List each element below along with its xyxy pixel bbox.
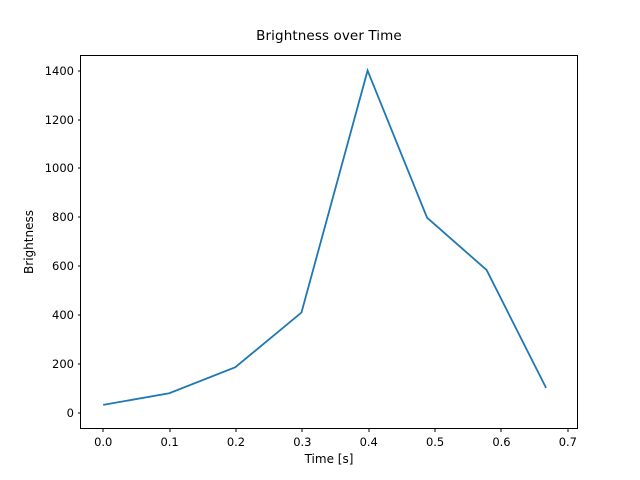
plot-axes: 02004006008001000120014000.00.10.20.30.4… [80, 55, 578, 429]
y-tick-label: 1200 [45, 113, 81, 127]
line-series-brightness [103, 71, 546, 405]
x-tick-label: 0.6 [492, 428, 510, 449]
x-tick-label: 0.4 [360, 428, 378, 449]
x-axis-label: Time [s] [80, 452, 578, 466]
x-tick-label: 0.0 [94, 428, 112, 449]
y-axis-label: Brightness [22, 55, 38, 429]
x-tick-label: 0.3 [293, 428, 311, 449]
x-tick-label: 0.1 [160, 428, 178, 449]
figure: Brightness over Time 0200400600800100012… [0, 0, 640, 480]
y-tick-label: 800 [52, 210, 81, 224]
y-tick-label: 1400 [45, 64, 81, 78]
x-tick-label: 0.5 [426, 428, 444, 449]
chart-title: Brightness over Time [80, 28, 578, 44]
y-tick-label: 0 [67, 406, 81, 420]
y-tick-label: 200 [52, 357, 81, 371]
line-series-svg [81, 56, 577, 428]
x-tick-label: 0.7 [559, 428, 577, 449]
y-tick-label: 600 [52, 259, 81, 273]
y-tick-label: 400 [52, 308, 81, 322]
y-tick-label: 1000 [45, 161, 81, 175]
x-tick-label: 0.2 [227, 428, 245, 449]
